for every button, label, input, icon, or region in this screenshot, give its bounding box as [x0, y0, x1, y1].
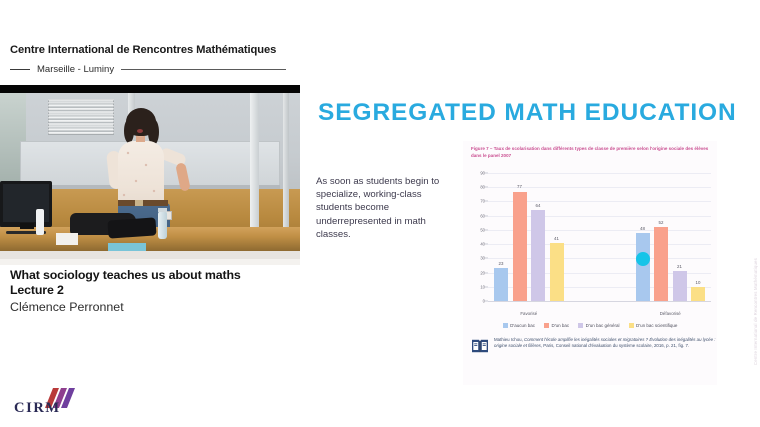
- highlight-marker: [636, 252, 650, 266]
- bar: [531, 210, 545, 301]
- cirm-header: Centre International de Rencontres Mathé…: [0, 0, 300, 85]
- legend-swatch: [629, 323, 634, 328]
- desk-bag-secondary: [107, 217, 156, 238]
- book-icon: [471, 338, 489, 354]
- legend-item: D'un bac général: [578, 323, 619, 328]
- legend-label: D'un bac: [551, 323, 569, 328]
- legend-swatch: [544, 323, 549, 328]
- lecture-title-line-1: What sociology teaches us about maths: [10, 268, 300, 283]
- legend-item: D'un bac: [544, 323, 569, 328]
- lecture-metadata: What sociology teaches us about maths Le…: [10, 268, 300, 315]
- location-row: Marseille - Luminy: [10, 62, 300, 76]
- plot-area: 23776441Favorisé48522110Défavorisé: [488, 173, 711, 301]
- chart-card: Figure 7 – Taux de scolarisation dans di…: [463, 141, 717, 385]
- bar: [636, 233, 650, 301]
- bar-value-label: 10: [696, 280, 701, 285]
- legend-swatch: [503, 323, 508, 328]
- speaker-belt: [118, 200, 168, 206]
- lecture-video-frame[interactable]: [0, 85, 300, 265]
- legend-label: D'un bac scientifique: [636, 323, 677, 328]
- bar-value-label: 48: [640, 226, 645, 231]
- bar-value-label: 77: [517, 184, 522, 189]
- desk-monitor-stand: [20, 223, 34, 229]
- y-axis: 0102030405060708090: [471, 173, 487, 301]
- wall-pillar-right: [250, 93, 259, 237]
- slide-title: SEGREGATED MATH EDUCATION: [318, 99, 737, 127]
- video-letterbox-top: [0, 85, 300, 93]
- source-text: Mathieu Ichou, Comment l'école amplifie …: [494, 337, 717, 350]
- bar-value-label: 52: [659, 220, 664, 225]
- wall-pillar-far-right: [283, 93, 289, 237]
- bar: [494, 268, 508, 301]
- bar-value-label: 21: [677, 264, 682, 269]
- legend-item: D'aucun bac: [503, 323, 535, 328]
- speaker-mouth: [137, 129, 143, 133]
- water-bottle: [158, 211, 167, 239]
- speaker-belt-buckle: [135, 200, 143, 206]
- vertical-credit-text: Centre International de Rencontres Mathé…: [753, 258, 758, 365]
- bar: [550, 243, 564, 301]
- desk-paper: [56, 233, 78, 245]
- speaker-blouse-pattern: [118, 143, 164, 205]
- presentation-slide: SEGREGATED MATH EDUCATION As soon as stu…: [300, 85, 760, 427]
- location-label: Marseille - Luminy: [30, 64, 121, 75]
- cirm-logo[interactable]: CIRM: [14, 388, 90, 418]
- source-publication: , Paris, Conseil national d'évaluation d…: [541, 343, 689, 348]
- bar-chart: 0102030405060708090 23776441Favorisé4852…: [471, 173, 711, 313]
- bar-value-label: 64: [536, 203, 541, 208]
- chart-legend: D'aucun bacD'un bacD'un bac généralD'un …: [463, 323, 717, 328]
- hall-floor: [0, 251, 300, 259]
- bar-value-label: 41: [554, 236, 559, 241]
- bar: [654, 227, 668, 301]
- legend-swatch: [578, 323, 583, 328]
- source-author: Mathieu Ichou,: [494, 337, 524, 342]
- divider-left: [10, 69, 30, 70]
- legend-label: D'un bac général: [586, 323, 620, 328]
- bar: [673, 271, 687, 301]
- wall-vent-slats: [48, 99, 114, 135]
- x-axis-line: [488, 301, 711, 302]
- institution-name: Centre International de Rencontres Mathé…: [10, 44, 276, 56]
- legend-item: D'un bac scientifique: [629, 323, 678, 328]
- source-citation: Mathieu Ichou, Comment l'école amplifie …: [471, 337, 717, 354]
- water-bottle-cap: [158, 208, 167, 212]
- bar: [691, 287, 705, 301]
- lecture-author: Clémence Perronnet: [10, 299, 300, 315]
- lecture-player-screen: Centre International de Rencontres Mathé…: [0, 0, 760, 427]
- legend-label: D'aucun bac: [510, 323, 535, 328]
- chart-caption: Figure 7 – Taux de scolarisation dans di…: [471, 146, 715, 159]
- lecture-title-line-2: Lecture 2: [10, 283, 300, 298]
- bar-value-label: 23: [499, 261, 504, 266]
- bar: [513, 192, 527, 302]
- divider-right: [121, 69, 286, 70]
- slide-body-text: As soon as students begin to specialize,…: [316, 175, 446, 241]
- hand-sanitizer-bottle: [36, 209, 44, 235]
- x-axis-group-label: Défavorisé: [660, 311, 681, 316]
- x-axis-group-label: Favorisé: [520, 311, 537, 316]
- logo-wordmark: CIRM: [14, 400, 61, 417]
- video-letterbox-bottom: [0, 259, 300, 265]
